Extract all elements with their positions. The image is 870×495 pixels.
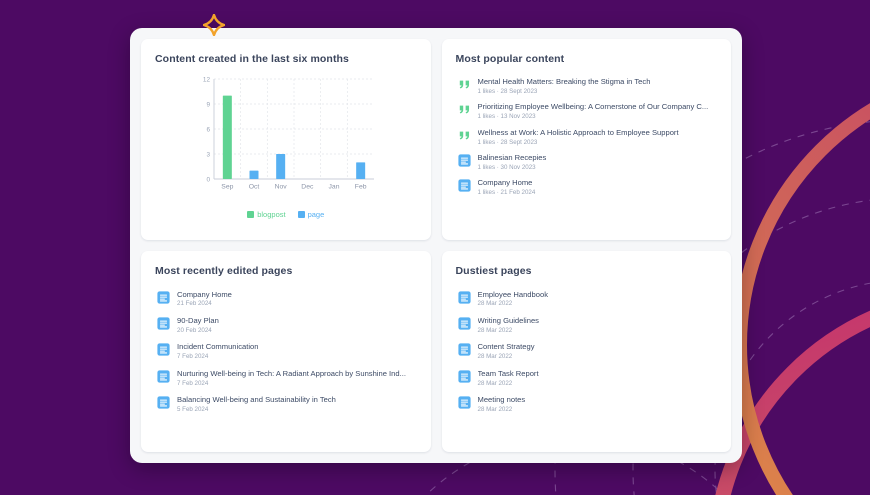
- list-item-meta: 28 Mar 2022: [478, 327, 716, 335]
- list-item-meta: 28 Mar 2022: [478, 353, 716, 361]
- page-icon: [458, 396, 471, 409]
- list-item[interactable]: Employee Handbook28 Mar 2022: [456, 286, 718, 312]
- x-tick-label: Dec: [301, 184, 314, 191]
- page-icon: [157, 343, 170, 356]
- x-tick-label: Feb: [355, 184, 367, 191]
- list-item-text: Meeting notes28 Mar 2022: [478, 395, 716, 414]
- chart-bar-page-Oct[interactable]: [249, 171, 258, 179]
- bar-chart-canvas[interactable]: 036912SepOctNovDecJanFeb: [192, 73, 380, 201]
- x-tick-label: Nov: [274, 184, 287, 191]
- list-item-text: Employee Handbook28 Mar 2022: [478, 290, 716, 309]
- list-item-title[interactable]: Nurturing Well-being in Tech: A Radiant …: [177, 369, 415, 378]
- list-item-text: Writing Guidelines28 Mar 2022: [478, 316, 716, 335]
- list-item[interactable]: Prioritizing Employee Wellbeing: A Corne…: [456, 99, 718, 124]
- chart-wrapper: 036912SepOctNovDecJanFeb blogpost page: [155, 73, 417, 219]
- list-item-meta: 1 likes · 28 Sept 2023: [478, 139, 716, 147]
- list-item-title[interactable]: Writing Guidelines: [478, 316, 716, 325]
- page-icon: [157, 291, 170, 304]
- list-item-meta: 7 Feb 2024: [177, 353, 415, 361]
- list-item-text: Balinesian Recepies1 likes · 30 Nov 2023: [478, 153, 716, 172]
- page-icon: [157, 370, 170, 383]
- list-item-title[interactable]: 90-Day Plan: [177, 316, 415, 325]
- list-item-meta: 21 Feb 2024: [177, 300, 415, 308]
- y-tick-label: 3: [206, 152, 210, 159]
- legend-swatch-blogpost: [247, 211, 254, 218]
- y-tick-label: 12: [203, 77, 211, 84]
- list-item-title[interactable]: Balancing Well-being and Sustainability …: [177, 395, 415, 404]
- page-icon: [157, 396, 170, 409]
- list-item[interactable]: Balancing Well-being and Sustainability …: [155, 391, 417, 417]
- list-item[interactable]: Mental Health Matters: Breaking the Stig…: [456, 74, 718, 99]
- list-item-meta: 7 Feb 2024: [177, 380, 415, 388]
- x-tick-label: Sep: [221, 184, 233, 191]
- page-icon: [458, 179, 471, 192]
- list-item-meta: 1 likes · 21 Feb 2024: [478, 189, 716, 197]
- x-tick-label: Jan: [328, 184, 339, 191]
- list-item[interactable]: Meeting notes28 Mar 2022: [456, 391, 718, 417]
- chart-bar-blogpost-Sep[interactable]: [223, 96, 232, 179]
- quote-icon: [458, 103, 471, 116]
- y-tick-label: 0: [206, 177, 210, 184]
- legend-label-blogpost: blogpost: [257, 210, 285, 219]
- list-item-meta: 20 Feb 2024: [177, 327, 415, 335]
- list-item-text: Balancing Well-being and Sustainability …: [177, 395, 415, 414]
- list-item-meta: 1 likes · 28 Sept 2023: [478, 88, 716, 96]
- list-item-text: Company Home1 likes · 21 Feb 2024: [478, 178, 716, 197]
- list-item-text: Incident Communication7 Feb 2024: [177, 342, 415, 361]
- list-item-title[interactable]: Wellness at Work: A Holistic Approach to…: [478, 128, 716, 137]
- page-icon: [458, 154, 471, 167]
- chart-legend: blogpost page: [247, 210, 324, 219]
- card-title-most-popular: Most popular content: [456, 53, 718, 65]
- page-icon: [157, 317, 170, 330]
- legend-item-blogpost[interactable]: blogpost: [247, 210, 285, 219]
- list-item[interactable]: Team Task Report28 Mar 2022: [456, 365, 718, 391]
- list-item-title[interactable]: Content Strategy: [478, 342, 716, 351]
- list-item[interactable]: Incident Communication7 Feb 2024: [155, 339, 417, 365]
- list-item[interactable]: 90-Day Plan20 Feb 2024: [155, 312, 417, 338]
- list-item-text: Mental Health Matters: Breaking the Stig…: [478, 77, 716, 96]
- page-icon: [458, 291, 471, 304]
- list-recently-edited: Company Home21 Feb 202490-Day Plan20 Feb…: [155, 286, 417, 418]
- quote-icon: [458, 129, 471, 142]
- bar-chart[interactable]: 036912SepOctNovDecJanFeb: [192, 73, 380, 206]
- star-cursor-icon: [203, 14, 225, 36]
- page-icon: [458, 317, 471, 330]
- list-item-text: Nurturing Well-being in Tech: A Radiant …: [177, 369, 415, 388]
- page-icon: [458, 343, 471, 356]
- list-item[interactable]: Company Home1 likes · 21 Feb 2024: [456, 175, 718, 200]
- list-item-text: Team Task Report28 Mar 2022: [478, 369, 716, 388]
- card-title-content-created: Content created in the last six months: [155, 53, 417, 65]
- card-recently-edited: Most recently edited pages Company Home2…: [141, 251, 431, 452]
- list-item-title[interactable]: Incident Communication: [177, 342, 415, 351]
- list-item-title[interactable]: Employee Handbook: [478, 290, 716, 299]
- card-dustiest-pages: Dustiest pages Employee Handbook28 Mar 2…: [442, 251, 732, 452]
- list-dustiest: Employee Handbook28 Mar 2022Writing Guid…: [456, 286, 718, 418]
- list-item[interactable]: Wellness at Work: A Holistic Approach to…: [456, 125, 718, 150]
- legend-swatch-page: [298, 211, 305, 218]
- list-item[interactable]: Balinesian Recepies1 likes · 30 Nov 2023: [456, 150, 718, 175]
- page-icon: [458, 370, 471, 383]
- list-item-title[interactable]: Prioritizing Employee Wellbeing: A Corne…: [478, 102, 716, 111]
- list-item-text: Prioritizing Employee Wellbeing: A Corne…: [478, 102, 716, 121]
- list-item-meta: 28 Mar 2022: [478, 380, 716, 388]
- list-item-title[interactable]: Balinesian Recepies: [478, 153, 716, 162]
- list-item-meta: 1 likes · 30 Nov 2023: [478, 164, 716, 172]
- chart-bar-page-Nov[interactable]: [276, 154, 285, 179]
- list-item-title[interactable]: Mental Health Matters: Breaking the Stig…: [478, 77, 716, 86]
- list-item-meta: 1 likes · 13 Nov 2023: [478, 113, 716, 121]
- list-item-text: 90-Day Plan20 Feb 2024: [177, 316, 415, 335]
- list-item[interactable]: Writing Guidelines28 Mar 2022: [456, 312, 718, 338]
- list-item-text: Company Home21 Feb 2024: [177, 290, 415, 309]
- list-item[interactable]: Nurturing Well-being in Tech: A Radiant …: [155, 365, 417, 391]
- x-tick-label: Oct: [248, 184, 259, 191]
- list-item-text: Content Strategy28 Mar 2022: [478, 342, 716, 361]
- legend-label-page: page: [308, 210, 325, 219]
- list-item-title[interactable]: Team Task Report: [478, 369, 716, 378]
- legend-item-page[interactable]: page: [298, 210, 325, 219]
- list-item-title[interactable]: Meeting notes: [478, 395, 716, 404]
- list-item-title[interactable]: Company Home: [177, 290, 415, 299]
- card-title-dustiest: Dustiest pages: [456, 265, 718, 277]
- card-most-popular-content: Most popular content Mental Health Matte…: [442, 39, 732, 240]
- list-item-text: Wellness at Work: A Holistic Approach to…: [478, 128, 716, 147]
- card-content-created: Content created in the last six months 0…: [141, 39, 431, 240]
- list-item-title[interactable]: Company Home: [478, 178, 716, 187]
- dashboard-frame: Content created in the last six months 0…: [130, 28, 742, 463]
- quote-icon: [458, 78, 471, 91]
- list-item-meta: 5 Feb 2024: [177, 406, 415, 414]
- list-item[interactable]: Content Strategy28 Mar 2022: [456, 339, 718, 365]
- list-item-meta: 28 Mar 2022: [478, 300, 716, 308]
- y-tick-label: 9: [206, 102, 210, 109]
- chart-bar-page-Feb[interactable]: [356, 162, 365, 179]
- card-title-recently-edited: Most recently edited pages: [155, 265, 417, 277]
- list-most-popular: Mental Health Matters: Breaking the Stig…: [456, 74, 718, 201]
- list-item[interactable]: Company Home21 Feb 2024: [155, 286, 417, 312]
- list-item-meta: 28 Mar 2022: [478, 406, 716, 414]
- y-tick-label: 6: [206, 127, 210, 134]
